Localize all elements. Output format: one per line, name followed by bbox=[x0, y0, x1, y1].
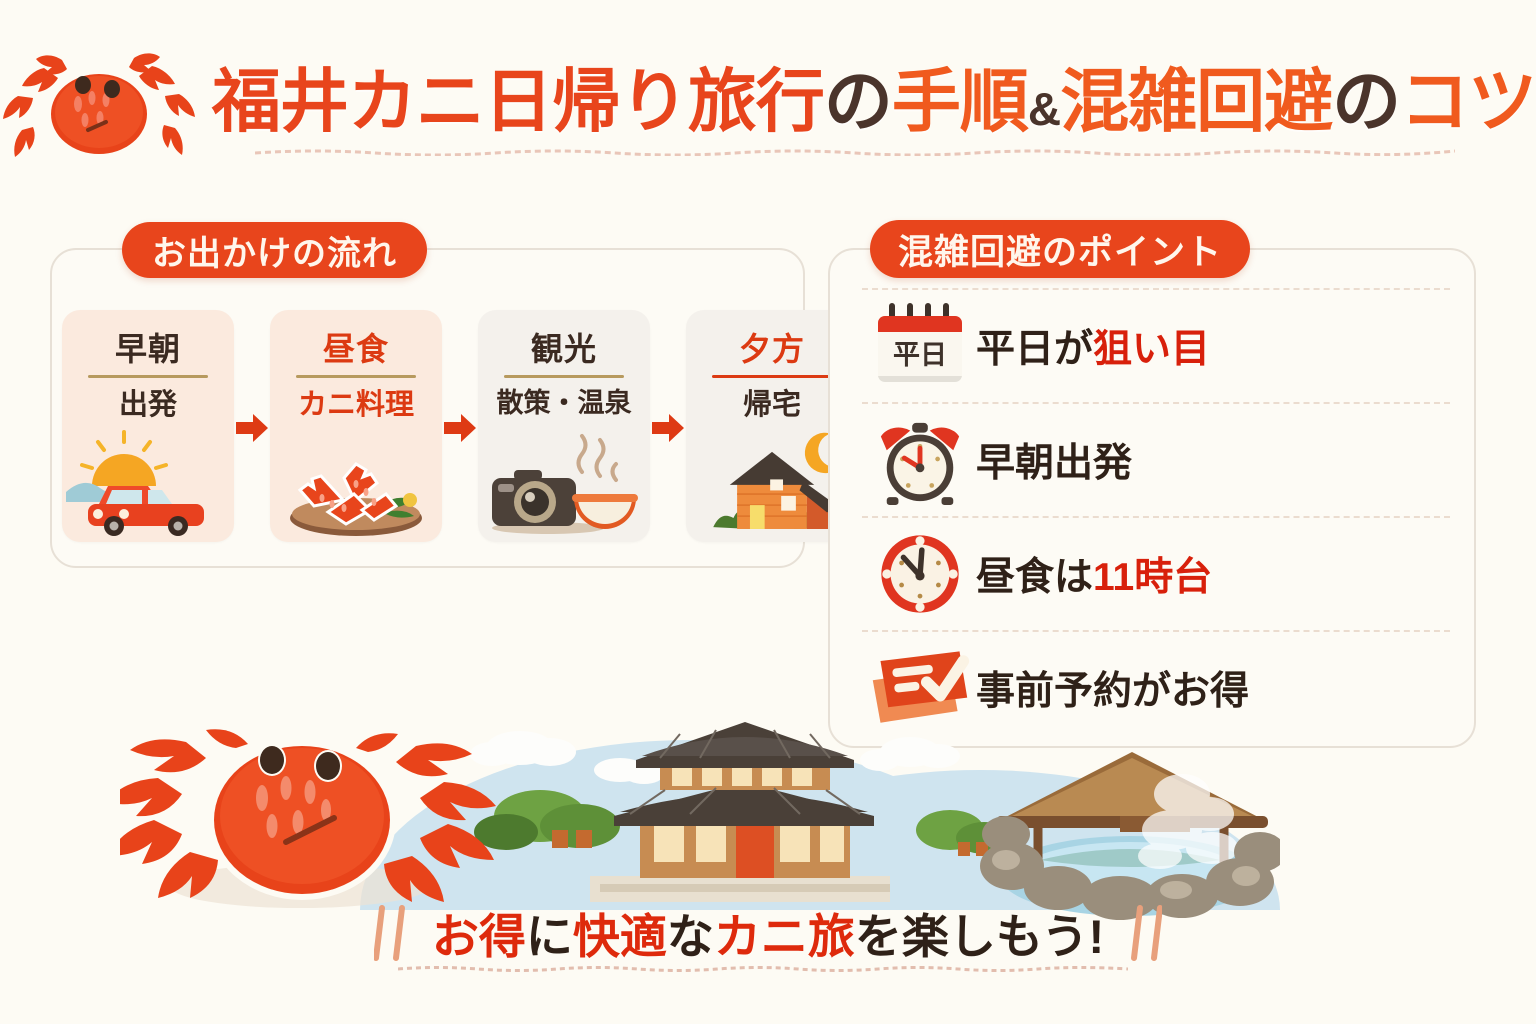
flow-arrow-3 bbox=[650, 310, 686, 546]
sunrise-car-icon bbox=[62, 428, 234, 540]
page-title: 福井カニ日帰り旅行の手順&混雑回避のコツ bbox=[212, 66, 1536, 138]
tip-item-3-label-pre: 昼食は bbox=[976, 556, 1093, 599]
tips-panel-badge: 混雑回避のポイント bbox=[870, 220, 1250, 278]
footer-part-5: を楽しもう! bbox=[855, 910, 1104, 963]
flow-step-1-rule bbox=[88, 375, 208, 378]
footer-part-2: 快適 bbox=[573, 910, 667, 963]
flow-arrow-1 bbox=[234, 310, 270, 546]
title-part-3: & bbox=[1028, 83, 1060, 135]
flow-steps: 早朝 出発 bbox=[62, 310, 792, 546]
tip-item-2[interactable]: 早朝出発 bbox=[856, 404, 1456, 516]
flow-step-3-rule bbox=[504, 375, 624, 378]
flow-step-1-head: 早朝 bbox=[62, 324, 234, 370]
page-header: 福井カニ日帰り旅行の手順&混雑回避のコツ bbox=[0, 42, 1536, 162]
title-part-4: 混雑回避 bbox=[1060, 63, 1332, 140]
calendar-icon: 平日 bbox=[864, 300, 976, 392]
calendar-icon-text: 平日 bbox=[893, 340, 947, 370]
slash-decor-icon-right bbox=[1124, 902, 1162, 964]
slash-decor-icon bbox=[374, 902, 412, 964]
flow-step-1[interactable]: 早朝 出発 bbox=[62, 310, 234, 542]
flow-step-1-sub: 出発 bbox=[62, 381, 234, 423]
flow-step-2[interactable]: 昼食 カニ料理 bbox=[270, 310, 442, 542]
flow-step-2-rule bbox=[296, 375, 416, 378]
title-part-6: コツ bbox=[1400, 63, 1536, 140]
flow-step-4-rule bbox=[712, 375, 832, 378]
title-underline-decor bbox=[255, 148, 1455, 156]
tip-item-1[interactable]: 平日 平日が狙い目 bbox=[856, 290, 1456, 402]
footer-part-4: カニ旅 bbox=[714, 910, 855, 963]
tip-item-1-label-highlight: 狙い目 bbox=[1093, 328, 1210, 371]
clock-icon bbox=[864, 528, 976, 620]
tip-item-3-label-highlight: 11時台 bbox=[1093, 556, 1212, 599]
flow-step-2-sub: カニ料理 bbox=[270, 381, 442, 423]
flow-step-3-sub: 散策・温泉 bbox=[478, 381, 650, 420]
tip-item-1-label: 平日が狙い目 bbox=[976, 318, 1210, 374]
flow-arrow-2 bbox=[442, 310, 478, 546]
tips-list: 平日 平日が狙い目 bbox=[856, 288, 1456, 744]
tip-item-3[interactable]: 昼食は11時台 bbox=[856, 518, 1456, 630]
tip-item-1-label-pre: 平日が bbox=[976, 328, 1093, 371]
tip-item-2-label-pre: 早朝出発 bbox=[976, 442, 1132, 485]
title-part-0: 福井カニ日帰り旅行 bbox=[212, 63, 824, 140]
footer-part-3: な bbox=[667, 910, 714, 963]
crab-icon bbox=[0, 42, 200, 162]
flow-panel-badge: お出かけの流れ bbox=[122, 222, 427, 278]
footer-text: お得に快適なカニ旅を楽しもう! bbox=[432, 898, 1104, 967]
tip-item-3-label: 昼食は11時台 bbox=[976, 546, 1212, 602]
flow-step-3-head: 観光 bbox=[478, 324, 650, 370]
footer-caption: お得に快適なカニ旅を楽しもう! bbox=[0, 898, 1536, 967]
bottom-scene bbox=[120, 690, 1280, 920]
tip-item-2-label: 早朝出発 bbox=[976, 432, 1132, 488]
infographic-root: 福井カニ日帰り旅行の手順&混雑回避のコツ お出かけの流れ 早朝 出発 bbox=[0, 0, 1536, 1024]
alarm-clock-icon bbox=[864, 414, 976, 506]
flow-step-3[interactable]: 観光 散策・温泉 bbox=[478, 310, 650, 542]
flow-step-2-head: 昼食 bbox=[270, 324, 442, 370]
camera-onsen-icon bbox=[478, 428, 650, 540]
footer-part-1: に bbox=[526, 910, 573, 963]
title-part-1: の bbox=[824, 63, 892, 140]
footer-underline-decor bbox=[398, 965, 1128, 972]
title-part-2: 手順 bbox=[892, 63, 1028, 140]
footer-part-0: お得 bbox=[432, 910, 526, 963]
crab-dish-icon bbox=[270, 428, 442, 540]
title-part-5: の bbox=[1332, 63, 1400, 140]
